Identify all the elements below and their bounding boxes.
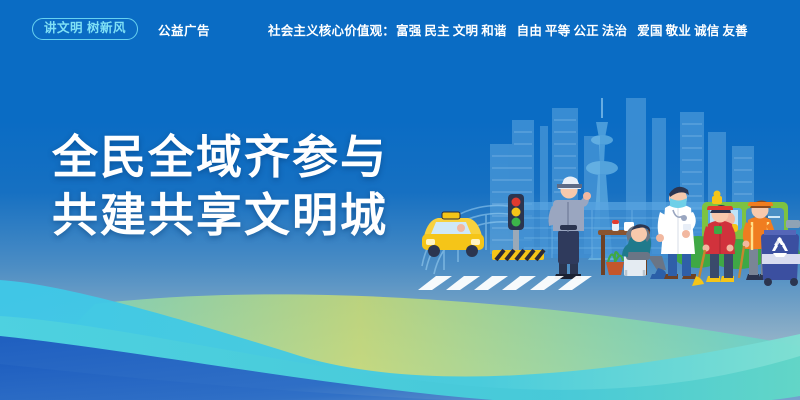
core-value-word: 富强 bbox=[396, 24, 421, 38]
core-value-word: 友善 bbox=[722, 24, 747, 38]
poster-header: 讲文明 树新风 公益广告 社会主义核心价值观：富强民主文明和谐自由平等公正法治爱… bbox=[0, 0, 800, 58]
core-value-word: 诚信 bbox=[694, 24, 719, 38]
core-value-word: 文明 bbox=[453, 24, 478, 38]
core-values-label: 社会主义核心价值观： bbox=[268, 24, 395, 38]
core-value-word: 民主 bbox=[424, 24, 449, 38]
core-value-word: 平等 bbox=[545, 24, 570, 38]
wave-decoration bbox=[0, 260, 800, 400]
core-value-word: 和谐 bbox=[481, 24, 506, 38]
core-values-strip: 社会主义核心价值观：富强民主文明和谐自由平等公正法治爱国敬业诚信友善 bbox=[268, 20, 751, 39]
core-value-word: 爱国 bbox=[637, 24, 662, 38]
title-line-1: 全民全域齐参与 bbox=[52, 128, 388, 186]
core-value-word: 敬业 bbox=[666, 24, 691, 38]
poster-title: 全民全域齐参与 共建共享文明城 bbox=[52, 128, 388, 244]
public-service-poster: 讲文明 树新风 公益广告 社会主义核心价值观：富强民主文明和谐自由平等公正法治爱… bbox=[0, 0, 800, 400]
title-line-2: 共建共享文明城 bbox=[52, 186, 388, 244]
core-value-word: 公正 bbox=[573, 24, 598, 38]
striped-barrier bbox=[492, 250, 544, 260]
campaign-badge: 讲文明 树新风 bbox=[32, 18, 138, 40]
core-value-word: 法治 bbox=[602, 24, 627, 38]
psa-label: 公益广告 bbox=[158, 20, 210, 39]
taxi bbox=[422, 212, 484, 257]
core-value-word: 自由 bbox=[517, 24, 542, 38]
